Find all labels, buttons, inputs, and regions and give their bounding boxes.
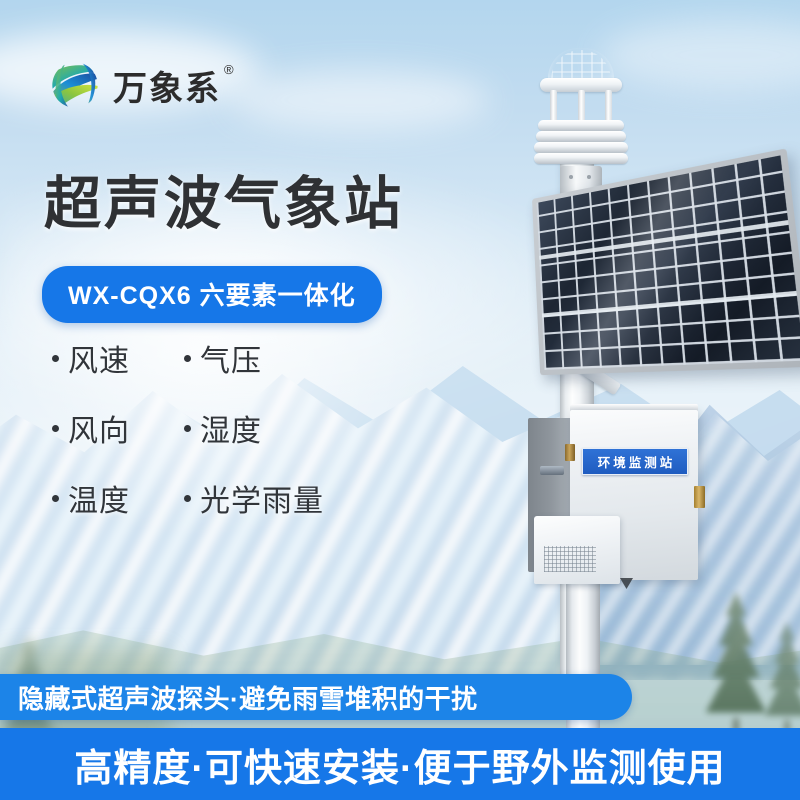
vented-sub-enclosure — [534, 516, 620, 584]
bullet-icon — [184, 495, 191, 502]
feature-label: 湿度 — [200, 406, 262, 450]
feature-item: 光学雨量 — [184, 476, 324, 520]
feature-label: 气压 — [200, 336, 262, 380]
brand-name-text: 万象系 ® — [113, 61, 236, 110]
controller-enclosure: 环境监测站 — [528, 410, 700, 592]
sub-enclosure-grill — [544, 546, 596, 572]
product-poster: 环境监测站 — [0, 0, 800, 800]
solar-panel-assembly — [536, 196, 786, 396]
radiation-shield-louvers — [534, 120, 628, 170]
ultrasonic-sensor-head — [520, 48, 640, 178]
model-badge-text: WX-CQX6 六要素一体化 — [68, 276, 356, 312]
middle-banner: 隐藏式超声波探头·避免雨雪堆积的干扰 — [0, 674, 632, 720]
enclosure-vent-slot — [540, 466, 564, 475]
feature-label: 光学雨量 — [200, 476, 324, 520]
feature-row: 风速 气压 — [52, 336, 412, 380]
middle-banner-text: 隐藏式超声波探头·避免雨雪堆积的干扰 — [18, 679, 478, 716]
feature-item: 风速 — [52, 336, 184, 380]
feature-label: 温度 — [68, 476, 130, 520]
bullet-icon — [184, 425, 191, 432]
page-title: 超声波气象站 — [44, 158, 404, 240]
brand-logo: 万象系 ® — [48, 58, 236, 112]
enclosure-nameplate: 环境监测站 — [582, 448, 688, 475]
feature-label: 风向 — [68, 406, 130, 450]
enclosure-hinge — [565, 444, 575, 461]
feature-item: 风向 — [52, 406, 184, 450]
brand-name: 万象系 — [113, 61, 221, 110]
feature-list: 风速 气压 风向 湿度 温度 光学雨量 — [52, 336, 412, 546]
cable-gland — [620, 578, 633, 589]
feature-item: 温度 — [52, 476, 184, 520]
ultrasonic-transducer-pillars — [548, 90, 614, 124]
bullet-icon — [52, 425, 59, 432]
bottom-banner: 高精度·可快速安装·便于野外监测使用 — [0, 728, 800, 800]
bullet-icon — [52, 355, 59, 362]
feature-row: 风向 湿度 — [52, 406, 412, 450]
enclosure-latch — [694, 486, 705, 508]
feature-item: 气压 — [184, 336, 262, 380]
feature-row: 温度 光学雨量 — [52, 476, 412, 520]
swirl-globe-logo-icon — [48, 58, 102, 112]
feature-item: 湿度 — [184, 406, 262, 450]
bullet-icon — [184, 355, 191, 362]
registered-mark: ® — [224, 62, 236, 77]
feature-label: 风速 — [68, 336, 130, 380]
bullet-icon — [52, 495, 59, 502]
bottom-banner-text: 高精度·可快速安装·便于野外监测使用 — [74, 737, 725, 792]
enclosure-label-text: 环境监测站 — [595, 452, 676, 471]
model-badge: WX-CQX6 六要素一体化 — [42, 266, 382, 323]
optical-rain-sensor-dome-icon — [548, 48, 614, 82]
